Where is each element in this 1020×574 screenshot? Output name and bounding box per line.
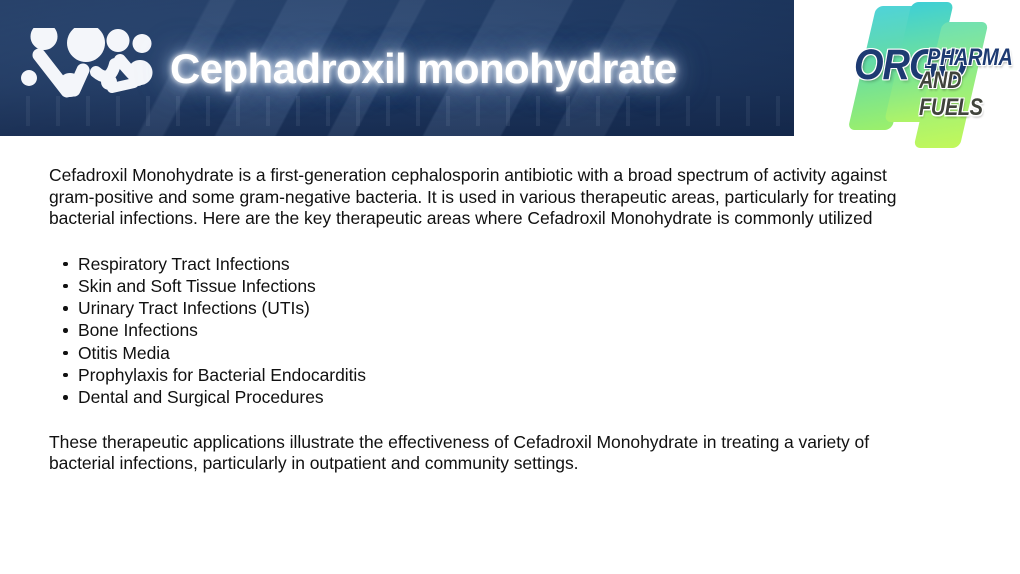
outro-paragraph: These therapeutic applications illustrat… [49,432,929,475]
list-item: Prophylaxis for Bacterial Endocarditis [63,364,929,386]
intro-paragraph: Cefadroxil Monohydrate is a first-genera… [49,165,929,230]
title-banner: Cephadroxil monohydrate [0,0,794,136]
logo-fuels-text: AND FUELS [919,68,1020,122]
slide-content: Cefadroxil Monohydrate is a first-genera… [49,165,929,475]
company-logo: ORGO PHARMA AND FUELS [852,0,1020,136]
molecule-network-icon [14,28,162,110]
list-item: Urinary Tract Infections (UTIs) [63,297,929,319]
list-item: Dental and Surgical Procedures [63,386,929,408]
list-item: Skin and Soft Tissue Infections [63,275,929,297]
logo-wordmark: ORGO PHARMA AND FUELS [852,0,1020,136]
page-header: Cephadroxil monohydrate ORGO PHARMA AND … [0,0,1020,136]
page-title: Cephadroxil monohydrate [170,41,677,97]
list-item: Otitis Media [63,342,929,364]
therapeutic-areas-list: Respiratory Tract Infections Skin and So… [49,253,929,409]
list-item: Respiratory Tract Infections [63,253,929,275]
list-item: Bone Infections [63,319,929,341]
